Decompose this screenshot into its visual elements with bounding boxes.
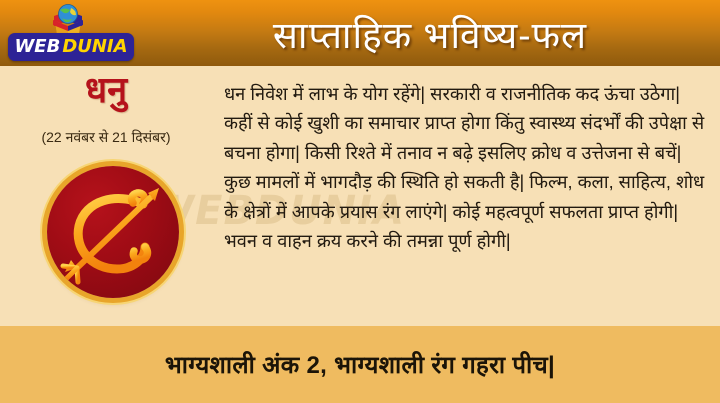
- lucky-info-text: भाग्यशाली अंक 2, भाग्यशाली रंग गहरा पीच|: [165, 348, 555, 381]
- webdunia-logo[interactable]: WEBDUNIA: [8, 1, 134, 63]
- zodiac-sign-name: धनु: [0, 70, 212, 110]
- header-bar: WEBDUNIA साप्ताहिक भविष्य-फल: [0, 0, 720, 66]
- logo-nameplate: WEBDUNIA: [8, 33, 134, 61]
- horoscope-card: WEBDUNIA साप्ताहिक भविष्य-फल WEBDUNIA धन…: [0, 0, 720, 403]
- zodiac-sign-panel: धनु (22 नवंबर से 21 दिसंबर): [0, 66, 212, 326]
- logo-dunia-text: DUNIA: [62, 38, 127, 56]
- zodiac-date-range: (22 नवंबर से 21 दिसंबर): [0, 128, 212, 147]
- forecast-text: धन निवेश में लाभ के योग रहेंगे| सरकारी व…: [224, 80, 706, 256]
- lucky-info-bar: भाग्यशाली अंक 2, भाग्यशाली रंग गहरा पीच|: [0, 326, 720, 403]
- page-title: साप्ताहिक भविष्य-फल: [150, 0, 710, 66]
- content-area: WEBDUNIA धनु (22 नवंबर से 21 दिसंबर): [0, 66, 720, 326]
- logo-web-text: WEB: [14, 38, 60, 56]
- sagittarius-bow-arrow-icon: [47, 166, 179, 298]
- globe-in-box-icon: [46, 2, 90, 36]
